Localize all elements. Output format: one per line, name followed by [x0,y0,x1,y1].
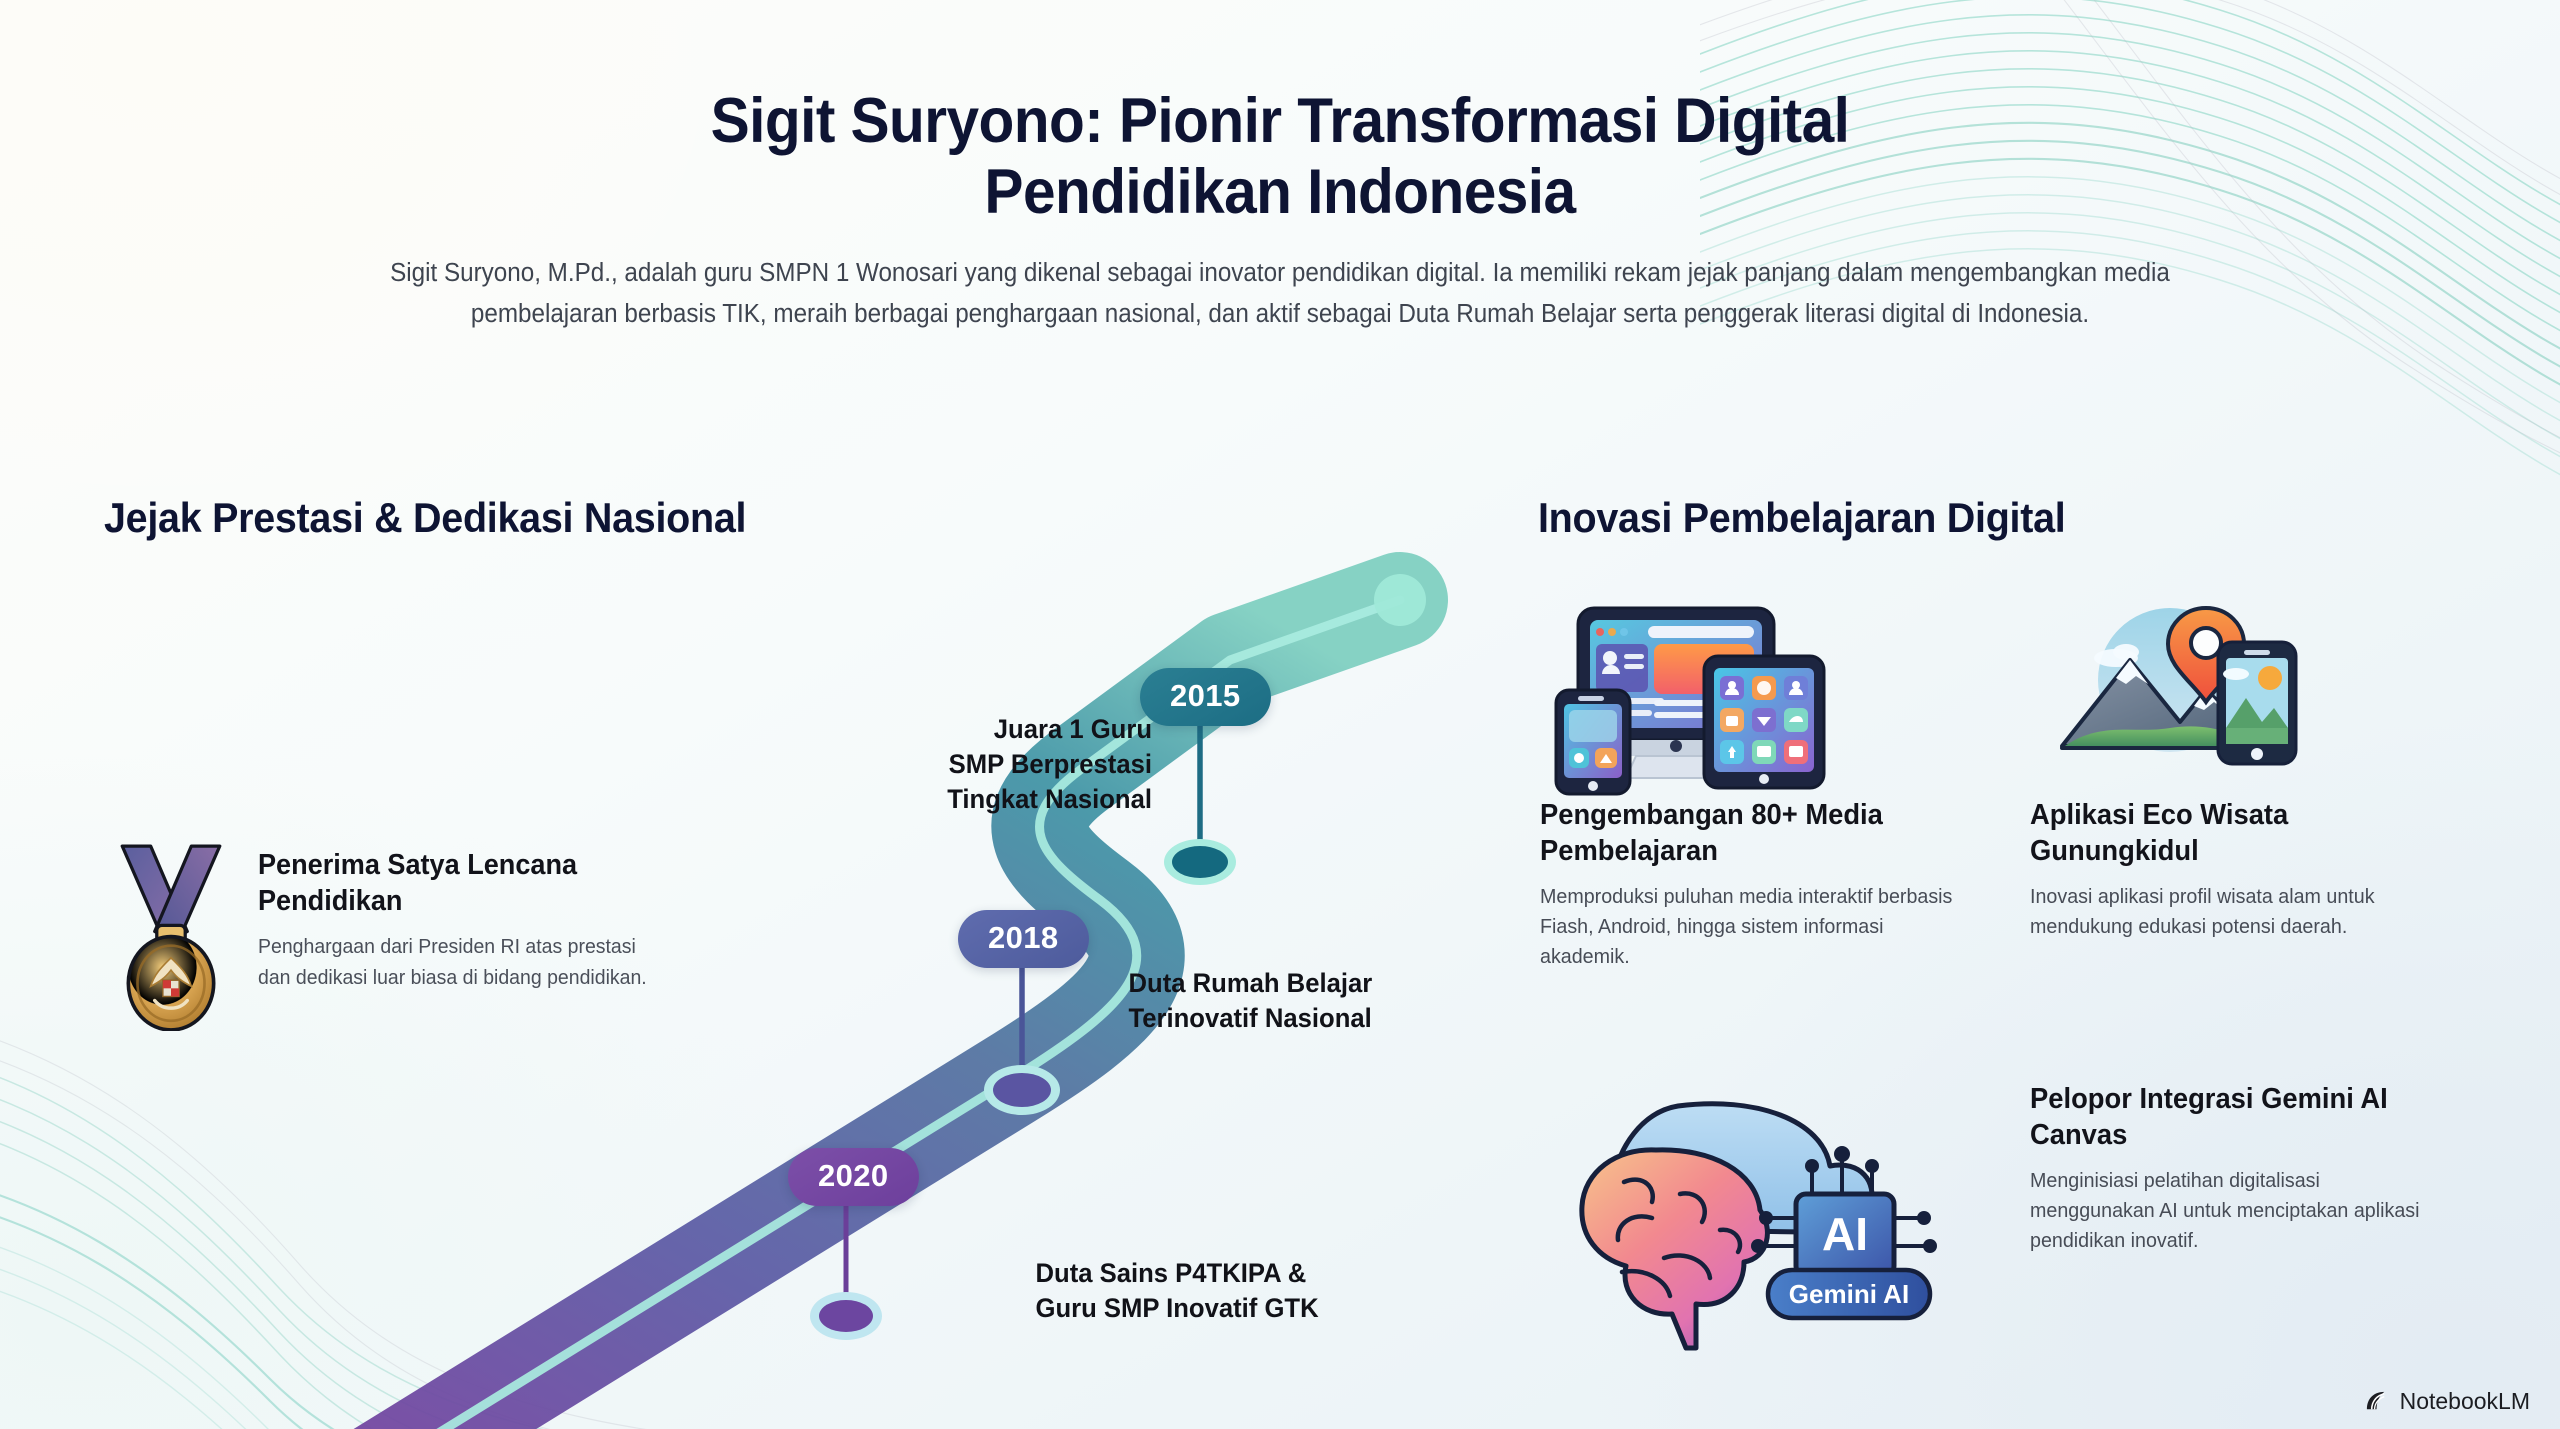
infographic-poster: Sigit Suryono: Pionir Transformasi Digit… [0,0,2560,1429]
brain-ai-icon-svg: AI Gemini AI [1560,1090,1940,1360]
mountain-map-phone-icon [2030,598,2460,798]
card-title-eco: Aplikasi Eco Wisata Gunungkidul [2030,798,2443,870]
brain-ai-icon: AI Gemini AI [1560,1090,1940,1365]
notebooklm-logo-icon [2364,1388,2391,1415]
timeline-node-2015 [1164,839,1236,885]
timeline-label-2015: Juara 1 Guru SMP Berprestasi Tingkat Nas… [848,712,1152,817]
card-description-media: Memproduksi puluhan media interaktif ber… [1540,882,1972,973]
card-title-gemini: Pelopor Integrasi Gemini AI Canvas [2030,1082,2443,1154]
devices-icon [1540,598,1990,798]
notebooklm-watermark-label: NotebookLM [2400,1388,2530,1415]
timeline-badge-2018[interactable]: 2018 [958,910,1089,968]
card-title-media: Pengembangan 80+ Media Pembelajaran [1540,798,1972,870]
card-media-pembelajaran: Pengembangan 80+ Media Pembelajaran Memp… [1540,598,1990,973]
ai-chip-label: AI [1822,1208,1868,1260]
road-end-cap [1374,574,1426,626]
devices-icon-svg [1540,598,1840,798]
card-description-gemini: Menginisiasi pelatihan digitalisasi meng… [2030,1166,2443,1257]
gemini-ai-badge-label: Gemini AI [1789,1279,1909,1309]
timeline-badge-2020[interactable]: 2020 [788,1148,919,1206]
timeline-label-2020: Duta Sains P4TKIPA & Guru SMP Inovatif G… [1036,1256,1473,1326]
card-description-eco: Inovasi aplikasi profil wisata alam untu… [2030,882,2443,943]
timeline-node-2020 [810,1292,882,1340]
timeline-label-2018: Duta Rumah Belajar Terinovatif Nasional [1129,966,1528,1036]
timeline-node-2018 [984,1065,1060,1115]
card-eco-wisata: Aplikasi Eco Wisata Gunungkidul Inovasi … [2030,598,2460,942]
mountain-map-phone-icon-svg [2030,598,2330,798]
timeline-badge-2015[interactable]: 2015 [1140,668,1271,726]
notebooklm-watermark: NotebookLM [2364,1388,2530,1415]
card-gemini-canvas: Pelopor Integrasi Gemini AI Canvas Mengi… [2030,1082,2460,1257]
